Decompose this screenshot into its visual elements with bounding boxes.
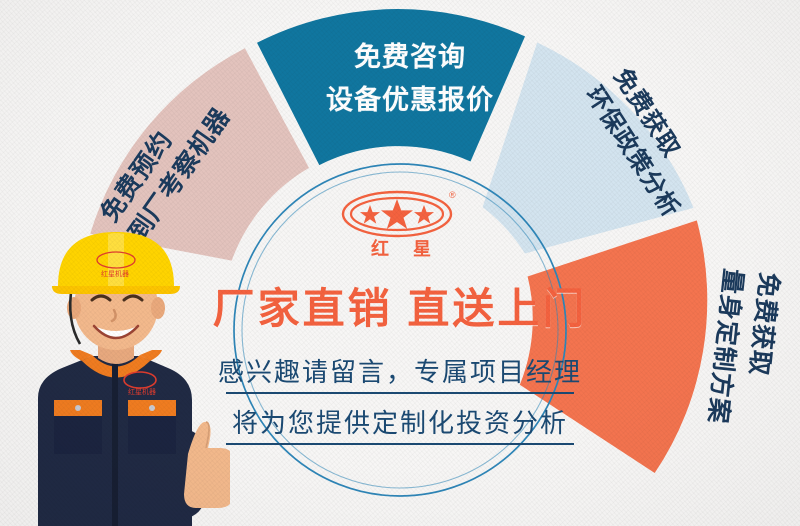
- segment-label-line: 设备优惠报价: [300, 79, 520, 122]
- pocket-left: [54, 416, 102, 454]
- helmet-badge-text: 红星机器: [101, 269, 129, 278]
- jacket-placket: [112, 361, 118, 526]
- promo-banner: 免费预约 到厂考察机器 免费咨询 设备优惠报价 免费获取 环保政策分析 免费获取…: [0, 0, 800, 526]
- divider-line-top: [226, 392, 574, 394]
- registered-mark: ®: [449, 190, 456, 200]
- hard-hat-ridge: [108, 233, 124, 286]
- pocket-button-left: [75, 405, 81, 411]
- segment-free-consultation-label: 免费咨询 设备优惠报价: [300, 36, 520, 122]
- star-icon: [360, 205, 380, 224]
- divider-line-bottom: [226, 443, 574, 445]
- hard-hat-brim: [52, 286, 180, 294]
- hongxing-logo: ® 红 星: [337, 188, 463, 260]
- star-icon: [381, 199, 413, 229]
- segment-label-line: 免费咨询: [300, 36, 520, 79]
- worker-photo: 红星机器 红星机器: [0, 228, 230, 526]
- logo-text-right: 星: [413, 239, 431, 259]
- logo-text-left: 红: [371, 238, 389, 259]
- star-icon: [414, 205, 434, 224]
- chest-logo-text: 红星机器: [128, 387, 156, 396]
- ear-right: [151, 297, 165, 319]
- pocket-right: [128, 416, 176, 454]
- pocket-button-right: [149, 405, 155, 411]
